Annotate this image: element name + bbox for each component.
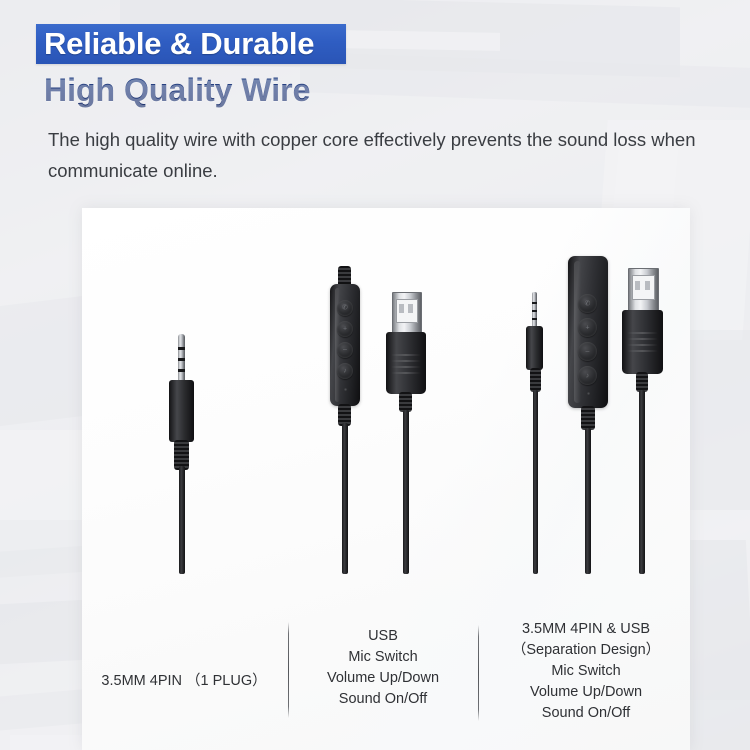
combo-jack-strain-relief bbox=[530, 368, 541, 392]
usb-connector-hood bbox=[386, 332, 426, 394]
combo-volume-down-button[interactable]: – bbox=[578, 342, 597, 361]
combo-mic-switch-button[interactable]: ✆ bbox=[578, 294, 597, 313]
combo-sound-onoff-button[interactable]: ♪ bbox=[578, 366, 597, 385]
combo-volume-up-button[interactable]: + bbox=[578, 318, 597, 337]
combo-module-strain-relief bbox=[581, 406, 595, 430]
cable-3-usb bbox=[639, 390, 645, 574]
cable-3-module bbox=[585, 428, 591, 574]
jack-barrel bbox=[169, 380, 194, 442]
product-feature-image: Reliable & Durable High Quality Wire The… bbox=[0, 0, 750, 750]
cable-3-jack bbox=[533, 390, 539, 574]
status-led bbox=[344, 388, 347, 391]
combo-usb-strain-relief bbox=[636, 372, 648, 392]
caption-product-3: 3.5MM 4PIN & USB （Separation Design） Mic… bbox=[482, 619, 690, 724]
combo-usb-connector-shell bbox=[628, 268, 659, 314]
product-photo-panel: ✆ + – ♪ bbox=[82, 208, 690, 750]
caption-divider-2 bbox=[478, 625, 479, 721]
jack-ring-3 bbox=[178, 369, 185, 372]
caption-product-1: 3.5MM 4PIN （1 PLUG） bbox=[82, 671, 286, 692]
caption-product-2: USB Mic Switch Volume Up/Down Sound On/O… bbox=[292, 626, 474, 710]
cable-1 bbox=[179, 466, 185, 574]
combo-status-led bbox=[587, 392, 590, 395]
volume-down-button[interactable]: – bbox=[337, 342, 353, 358]
jack-ring-2 bbox=[178, 358, 185, 361]
volume-up-button[interactable]: + bbox=[337, 321, 353, 337]
combo-jack-ring-1 bbox=[532, 302, 537, 304]
usb-strain-relief bbox=[399, 392, 412, 412]
page-title: High Quality Wire bbox=[44, 68, 544, 112]
jack-ring-1 bbox=[178, 347, 185, 350]
combo-jack-ring-3 bbox=[532, 318, 537, 320]
usb-connector-shell bbox=[392, 292, 422, 336]
mic-switch-button[interactable]: ✆ bbox=[337, 300, 353, 316]
description-text: The high quality wire with copper core e… bbox=[48, 124, 720, 186]
combo-jack-ring-2 bbox=[532, 310, 537, 312]
banner-title: Reliable & Durable bbox=[44, 25, 344, 63]
cable-2-usb bbox=[403, 410, 409, 574]
sound-onoff-button[interactable]: ♪ bbox=[337, 363, 353, 379]
caption-divider-1 bbox=[288, 622, 289, 718]
combo-usb-connector-hood bbox=[622, 310, 663, 374]
cable-2-module bbox=[342, 423, 348, 574]
combo-jack-barrel bbox=[526, 326, 543, 370]
